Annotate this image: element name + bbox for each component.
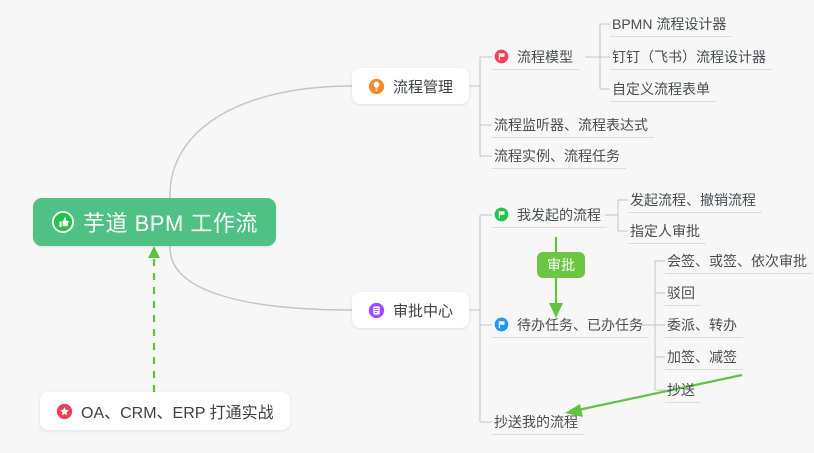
node-cc[interactable]: 抄送: [665, 377, 701, 403]
callout-label: OA、CRM、ERP 打通实战: [81, 399, 274, 423]
node-label-dingtalk-feishu-designer: 钉钉（飞书）流程设计器: [612, 47, 766, 67]
node-delegate-transfer[interactable]: 委派、转办: [665, 312, 743, 338]
node-bpmn-designer[interactable]: BPMN 流程设计器: [610, 11, 732, 37]
node-assignee-approval[interactable]: 指定人审批: [628, 218, 706, 244]
callout-node[interactable]: OA、CRM、ERP 打通实战: [40, 392, 290, 430]
flag-green-icon: [494, 207, 509, 222]
node-start-cancel-process[interactable]: 发起流程、撤销流程: [628, 187, 762, 213]
thumbs-up-icon: [51, 210, 75, 234]
node-countersign[interactable]: 会签、或签、依次审批: [665, 248, 813, 274]
node-instance-task[interactable]: 流程实例、流程任务: [492, 143, 626, 169]
connector-root-to-process-management: [170, 86, 352, 198]
node-label-listener-expression: 流程监听器、流程表达式: [494, 115, 648, 135]
node-label-delegate-transfer: 委派、转办: [667, 315, 737, 335]
node-cc-to-me[interactable]: 抄送我的流程: [492, 409, 584, 435]
cc-to-ccme-arrow: [565, 375, 742, 417]
branch-node-approval-center[interactable]: 审批中心: [352, 292, 469, 328]
node-process-model[interactable]: 流程模型: [492, 44, 579, 70]
node-label-add-remove-sign: 加签、减签: [667, 347, 737, 367]
node-label-my-initiated: 我发起的流程: [517, 205, 601, 225]
node-label-instance-task: 流程实例、流程任务: [494, 146, 620, 166]
node-label-todo-done-tasks: 待办任务、已办任务: [517, 315, 643, 335]
clipboard-purple-icon: [368, 302, 385, 319]
root-node-label: 芋道 BPM 工作流: [83, 206, 258, 238]
node-label-bpmn-designer: BPMN 流程设计器: [612, 14, 726, 34]
node-label-custom-process-form: 自定义流程表单: [612, 79, 710, 99]
node-listener-expression[interactable]: 流程监听器、流程表达式: [492, 112, 654, 138]
branch-node-process-management[interactable]: 流程管理: [352, 68, 469, 104]
node-my-initiated[interactable]: 我发起的流程: [492, 202, 607, 228]
node-label-start-cancel-process: 发起流程、撤销流程: [630, 190, 756, 210]
node-label-process-model: 流程模型: [517, 47, 573, 67]
callout-to-root-arrow: [148, 246, 160, 392]
branch-label-process-management: 流程管理: [393, 76, 453, 97]
node-label-cc-to-me: 抄送我的流程: [494, 412, 578, 432]
node-add-remove-sign[interactable]: 加签、减签: [665, 344, 743, 370]
node-label-countersign: 会签、或签、依次审批: [667, 251, 807, 271]
node-label-assignee-approval: 指定人审批: [630, 221, 700, 241]
mindmap-canvas: 芋道 BPM 工作流 流程管理 流程模型 BPMN 流程设计器 钉钉（飞书: [0, 0, 814, 453]
root-node[interactable]: 芋道 BPM 工作流: [33, 198, 276, 246]
star-red-icon: [56, 403, 73, 420]
node-dingtalk-feishu-designer[interactable]: 钉钉（飞书）流程设计器: [610, 44, 772, 70]
connector-root-to-approval-center: [170, 246, 352, 310]
flag-red-icon: [494, 49, 509, 64]
branch-label-approval-center: 审批中心: [393, 300, 453, 321]
flag-blue-icon: [494, 317, 509, 332]
lightbulb-icon: [368, 78, 385, 95]
node-custom-process-form[interactable]: 自定义流程表单: [610, 76, 716, 102]
node-label-cc: 抄送: [667, 380, 695, 400]
approval-badge-label: 审批: [547, 255, 575, 275]
node-label-reject: 驳回: [667, 283, 695, 303]
node-todo-done-tasks[interactable]: 待办任务、已办任务: [492, 312, 649, 338]
node-reject[interactable]: 驳回: [665, 280, 701, 306]
approval-badge: 审批: [537, 252, 585, 278]
